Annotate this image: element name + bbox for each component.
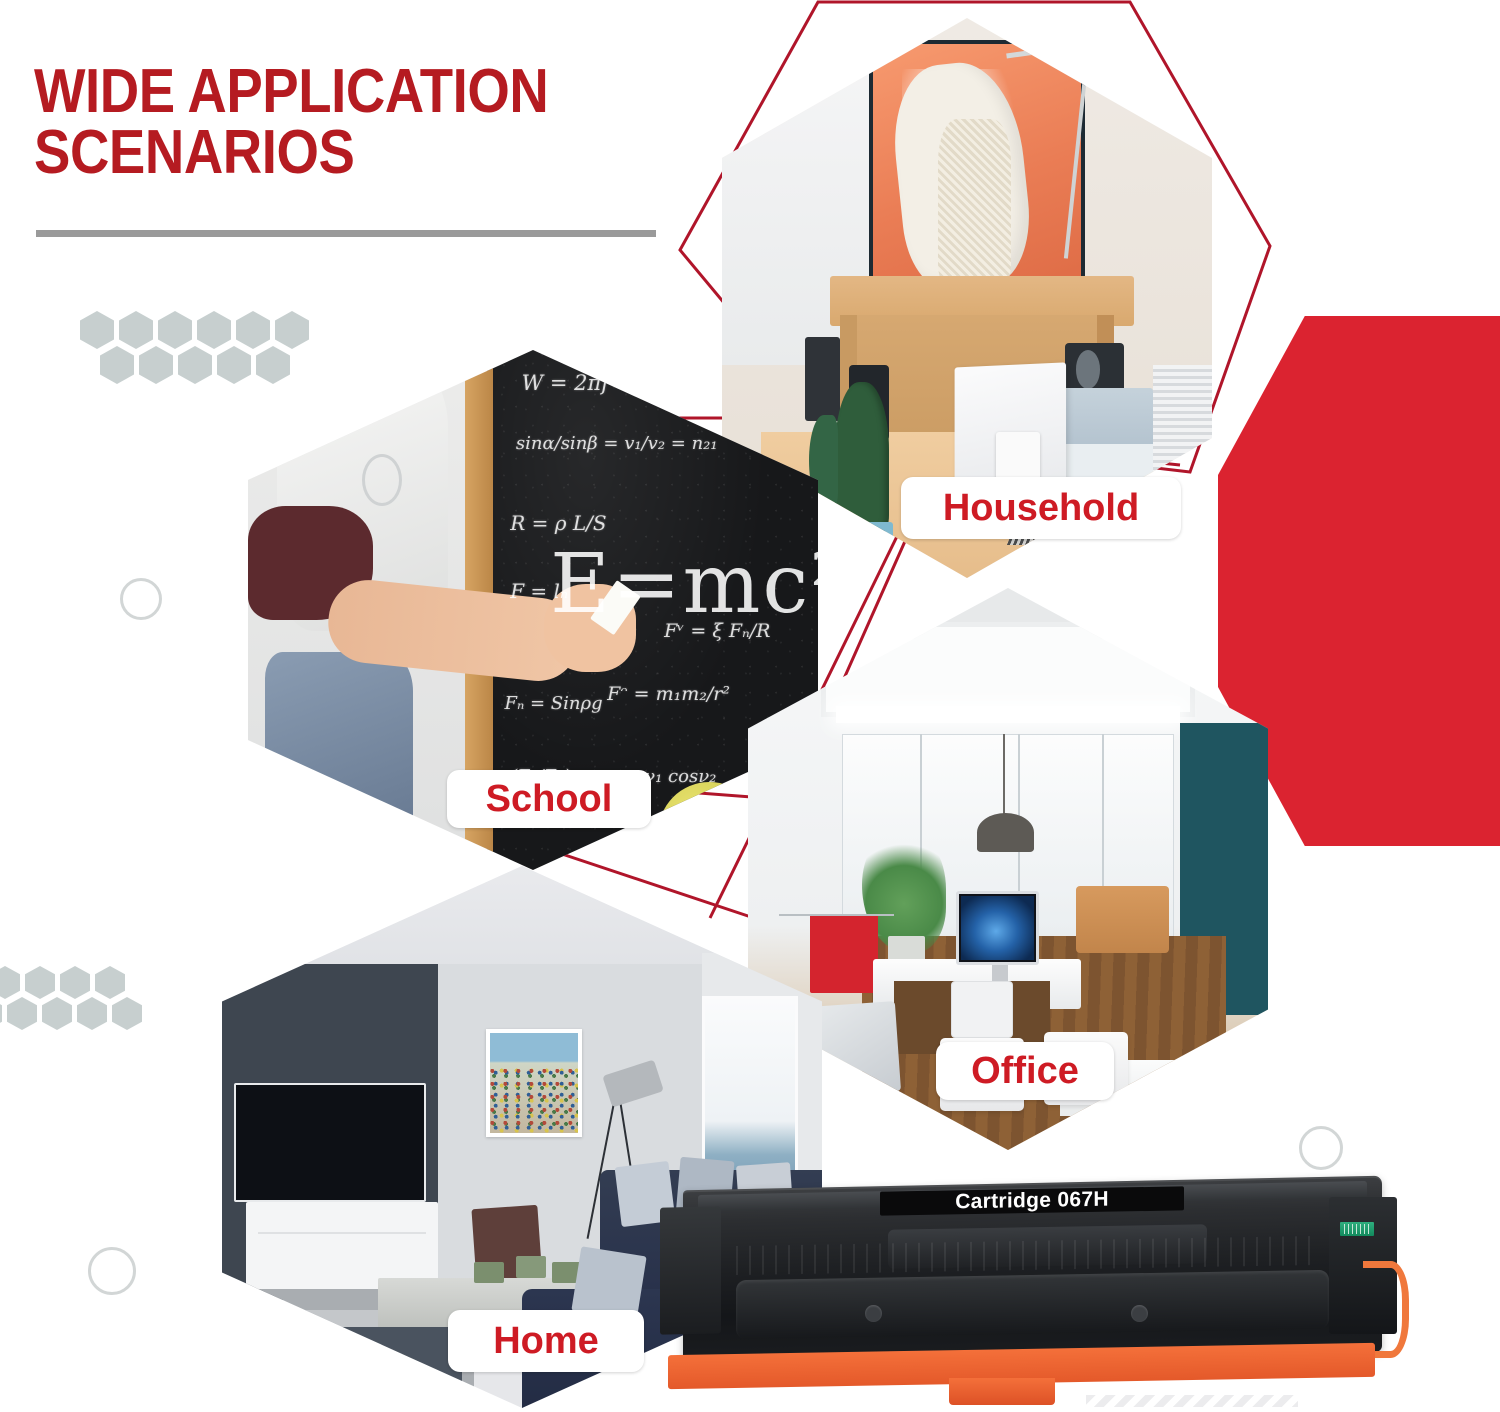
hexagon-dot: [158, 311, 192, 349]
hexagon-dot: [77, 997, 107, 1030]
cartridge-left-endcap: [660, 1206, 721, 1334]
badge-school-label: School: [486, 778, 613, 821]
badge-home[interactable]: Home: [448, 1310, 644, 1372]
hexagon-dot: [197, 311, 231, 349]
page-title: WIDE APPLICATION SCENARIOS: [34, 62, 734, 184]
hexagon-dot: [275, 311, 309, 349]
hexagon-dot: [119, 311, 153, 349]
hexagon-dot: [112, 997, 142, 1030]
hexagon-dot: [0, 966, 20, 999]
hexagon-dot: [256, 346, 290, 384]
cartridge-foot: [949, 1378, 1055, 1405]
badge-office[interactable]: Office: [936, 1042, 1114, 1100]
title-divider: [36, 230, 656, 237]
cartridge-port-right: [1131, 1305, 1148, 1322]
hexagon-dot: [217, 346, 251, 384]
badge-school[interactable]: School: [447, 770, 651, 828]
circle-outline-decor: [88, 1247, 136, 1295]
hexagon-dot: [0, 997, 2, 1030]
hexagon-dot: [60, 966, 90, 999]
badge-household[interactable]: Household: [901, 477, 1181, 539]
badge-home-label: Home: [493, 1320, 599, 1363]
hexagon-dot: [80, 311, 114, 349]
hexagon-dot: [236, 311, 270, 349]
poster-canvas: WIDE APPLICATION SCENARIOS: [0, 0, 1500, 1408]
cartridge-shadow-pattern: [1086, 1395, 1299, 1407]
hexagon-dot: [7, 997, 37, 1030]
page-title-line-1: WIDE APPLICATION: [34, 62, 650, 123]
hexagon-dot: [95, 966, 125, 999]
circle-outline-decor: [120, 578, 162, 620]
cartridge-model-text: Cartridge 067H: [956, 1188, 1110, 1215]
hexagon-dot: [100, 346, 134, 384]
cartridge-port-left: [865, 1305, 882, 1322]
hexagon-dot: [25, 966, 55, 999]
cartridge-drum-cover: [736, 1270, 1329, 1339]
hexagon-dot: [42, 997, 72, 1030]
badge-office-label: Office: [971, 1050, 1079, 1093]
page-title-line-2: SCENARIOS: [34, 123, 650, 184]
circle-outline-decor: [1299, 1126, 1343, 1170]
toner-cartridge-product[interactable]: Cartridge 067H: [660, 1168, 1420, 1412]
cartridge-chip-icon: [1340, 1222, 1374, 1237]
hexagon-dot: [139, 346, 173, 384]
hexagon-dot: [178, 346, 212, 384]
badge-household-label: Household: [943, 487, 1139, 530]
